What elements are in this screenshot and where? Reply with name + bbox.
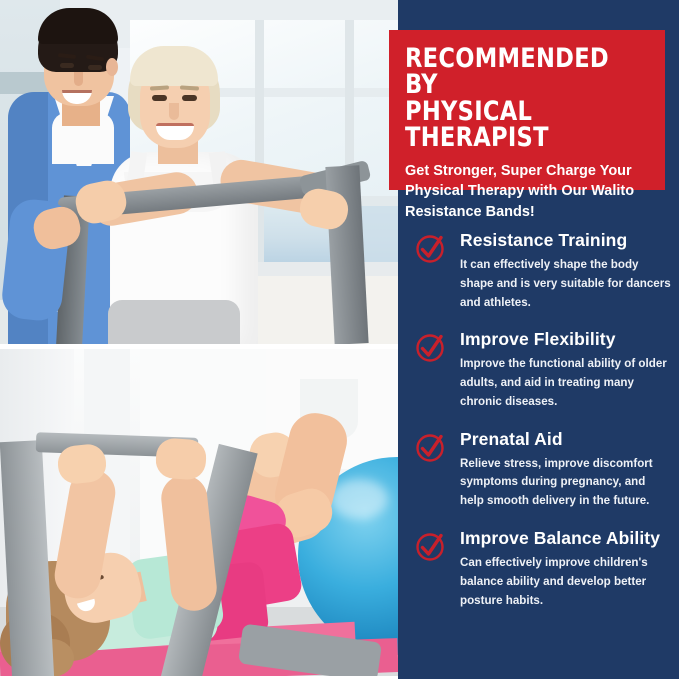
feature-title: Improve Balance Ability: [460, 528, 672, 549]
feature-list: Resistance Training It can effectively s…: [414, 230, 672, 610]
child-hand-right: [155, 437, 208, 480]
therapist-nose: [74, 72, 83, 86]
feature-title: Improve Flexibility: [460, 329, 672, 350]
therapist-ear: [106, 58, 118, 76]
feature-item-improve-flexibility: Improve Flexibility Improve the function…: [414, 329, 672, 411]
therapist-eye-left: [60, 63, 74, 68]
headline-line-2: PHYSICAL THERAPIST: [405, 99, 634, 152]
therapist-eye-right: [88, 65, 102, 70]
product-infographic: RECOMMENDED BY PHYSICAL THERAPIST Get St…: [0, 0, 679, 679]
headline-line-1: RECOMMENDED BY: [405, 46, 634, 99]
headline-subtext: Get Stronger, Super Charge Your Physical…: [405, 161, 651, 223]
patient-eye-left: [152, 95, 167, 101]
exercise-ball-highlight: [330, 479, 388, 519]
check-circle-icon: [414, 530, 446, 562]
photo-child-on-exercise-ball: [0, 349, 398, 679]
headline-banner: RECOMMENDED BY PHYSICAL THERAPIST Get St…: [389, 30, 665, 190]
page-title: RECOMMENDED BY PHYSICAL THERAPIST: [405, 46, 634, 152]
feature-title: Resistance Training: [460, 230, 672, 251]
check-circle-icon: [414, 331, 446, 363]
feature-title: Prenatal Aid: [460, 429, 672, 450]
feature-description: Relieve stress, improve discomfort sympt…: [460, 455, 672, 511]
feature-item-improve-balance-ability: Improve Balance Ability Can effectively …: [414, 528, 672, 610]
feature-description: It can effectively shape the body shape …: [460, 256, 672, 312]
photo-therapist-with-senior-woman: [0, 0, 398, 344]
check-circle-icon: [414, 431, 446, 463]
feature-item-resistance-training: Resistance Training It can effectively s…: [414, 230, 672, 312]
feature-item-prenatal-aid: Prenatal Aid Relieve stress, improve dis…: [414, 429, 672, 511]
check-circle-icon: [414, 232, 446, 264]
patient-trousers: [108, 300, 240, 344]
feature-description: Improve the functional ability of older …: [460, 355, 672, 411]
patient-nose: [169, 103, 179, 120]
feature-description: Can effectively improve children's balan…: [460, 554, 672, 610]
patient-eye-right: [182, 95, 197, 101]
